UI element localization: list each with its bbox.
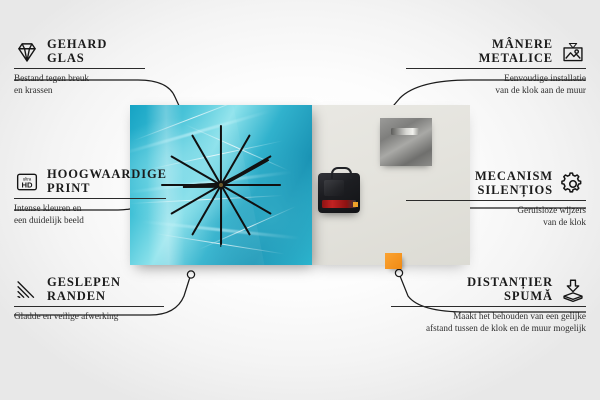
feature-manere-metalice: MÂNERE METALICE Eenvoudige installatie v… [406,38,586,96]
hanger-slot [391,128,419,135]
battery [322,200,356,208]
feature-description: Gladde en veilige afwerking [14,310,199,322]
mechanism-hook [331,167,352,179]
feature-title-line2: SILENȚIOS [475,184,553,198]
metal-hanger-bracket [380,118,432,166]
feature-title-line1: MÂNERE [479,38,553,52]
gear-icon [560,171,586,197]
picture-hanger-icon [560,39,586,65]
feature-title-line1: MECANISM [475,170,553,184]
feature-title-line1: HOOGWAARDIGE [47,168,167,182]
mechanism-housing-detail [324,180,344,196]
feature-title-line2: SPUMĂ [467,290,553,304]
feature-description: Eenvoudige installatie van de klok aan d… [406,72,586,96]
beveled-edge-icon [14,277,40,303]
feature-divider [14,68,145,69]
feature-hoogwaardige-print: ultra HD HOOGWAARDIGE PRINT Intense kleu… [14,168,189,226]
feature-divider [14,198,166,199]
feature-description: Intense kleuren en een duidelijk beeld [14,202,189,226]
foam-spacer [385,253,402,269]
feature-gehard-glas: GEHARD GLAS Bestand tegen breuk en krass… [14,38,189,96]
feature-description: Bestand tegen breuk en krassen [14,72,189,96]
hour-marker [221,184,281,186]
feature-title-line1: DISTANȚIER [467,276,553,290]
diamond-gem-icon [14,39,40,65]
feature-description: Geruisloze wijzers van de klok [406,204,586,228]
feature-divider [391,306,586,307]
ultra-hd-print-icon: ultra HD [14,169,40,195]
feature-geslepen-randen: GESLEPEN RANDEN Gladde en veilige afwerk… [14,276,199,322]
feature-title-line2: METALICE [479,52,553,66]
feature-title-line2: GLAS [47,52,107,66]
foam-spacer-arrow-icon [560,277,586,303]
feature-title-line1: GEHARD [47,38,107,52]
feature-title-line2: PRINT [47,182,167,196]
feature-title-line2: RANDEN [47,290,121,304]
feature-divider [14,306,164,307]
feature-description: Maakt het behouden van een gelijke afsta… [391,310,586,334]
feature-divider [406,200,586,201]
infographic-canvas: GEHARD GLAS Bestand tegen breuk en krass… [0,0,600,400]
svg-text:HD: HD [21,180,33,189]
feature-title-line1: GESLEPEN [47,276,121,290]
hour-marker [220,125,222,185]
feature-distantier-spuma: DISTANȚIER SPUMĂ Maakt het behouden van … [391,276,586,334]
feature-mecanism-silentios: MECANISM SILENȚIOS Geruisloze wijzers va… [406,170,586,228]
battery-terminal [353,202,358,207]
clock-mechanism [318,173,360,213]
feature-divider [406,68,586,69]
